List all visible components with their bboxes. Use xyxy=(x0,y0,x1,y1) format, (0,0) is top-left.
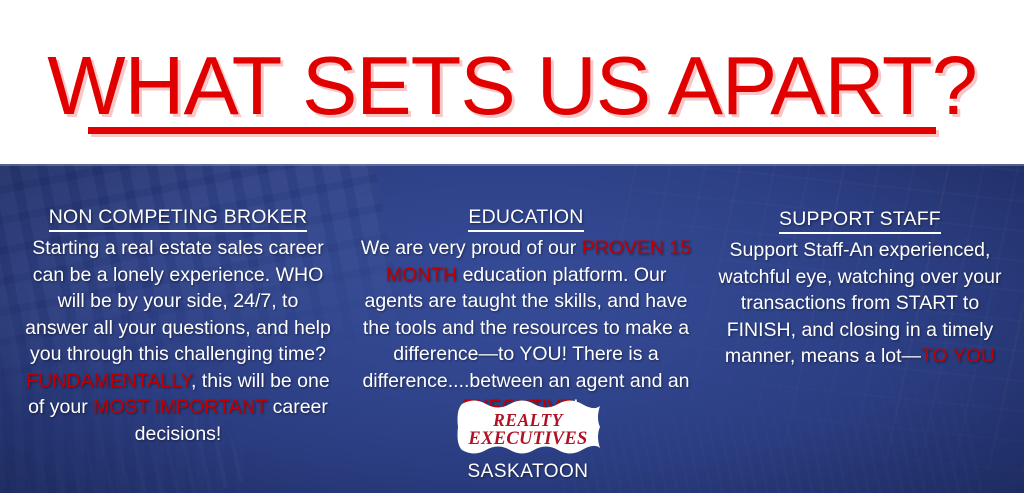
slide-root: WHAT SETS US APART? NON COMPETING BROKER… xyxy=(0,0,1024,493)
column-body-support-staff: Support Staff-An experienced, watchful e… xyxy=(714,237,1006,370)
page-title: WHAT SETS US APART? xyxy=(0,44,1024,127)
title-underline-rule xyxy=(88,127,936,134)
column-body-non-competing-broker: Starting a real estate sales career can … xyxy=(24,235,332,447)
shield-icon: REALTY EXECUTIVES xyxy=(452,396,604,458)
column-support-staff: SUPPORT STAFF Support Staff-An experienc… xyxy=(704,164,1024,370)
column-heading-education: EDUCATION xyxy=(468,205,583,232)
brand-logo: REALTY EXECUTIVES SASKATOON xyxy=(449,396,607,483)
column-education: EDUCATION We are very proud of our PROVE… xyxy=(348,164,704,421)
content-panel: NON COMPETING BROKER Starting a real est… xyxy=(0,164,1024,493)
column-heading-non-competing-broker: NON COMPETING BROKER xyxy=(49,205,308,232)
logo-wordmark-line2: EXECUTIVES xyxy=(467,429,587,449)
body-text: Starting a real estate sales career can … xyxy=(25,237,331,365)
body-text: We are very proud of our xyxy=(361,237,582,259)
title-band: WHAT SETS US APART? xyxy=(0,0,1024,164)
column-body-education: We are very proud of our PROVEN 15 MONTH… xyxy=(356,235,696,421)
column-heading-support-staff: SUPPORT STAFF xyxy=(779,207,941,234)
logo-city-label: SASKATOON xyxy=(449,461,607,483)
logo-wordmark-line1: REALTY xyxy=(492,410,565,430)
highlighted-text: MOST IMPORTANT xyxy=(93,396,267,418)
highlighted-text: TO YOU xyxy=(921,345,995,367)
highlighted-text: FUNDAMENTALLY xyxy=(26,370,191,392)
column-non-competing-broker: NON COMPETING BROKER Starting a real est… xyxy=(0,164,348,447)
